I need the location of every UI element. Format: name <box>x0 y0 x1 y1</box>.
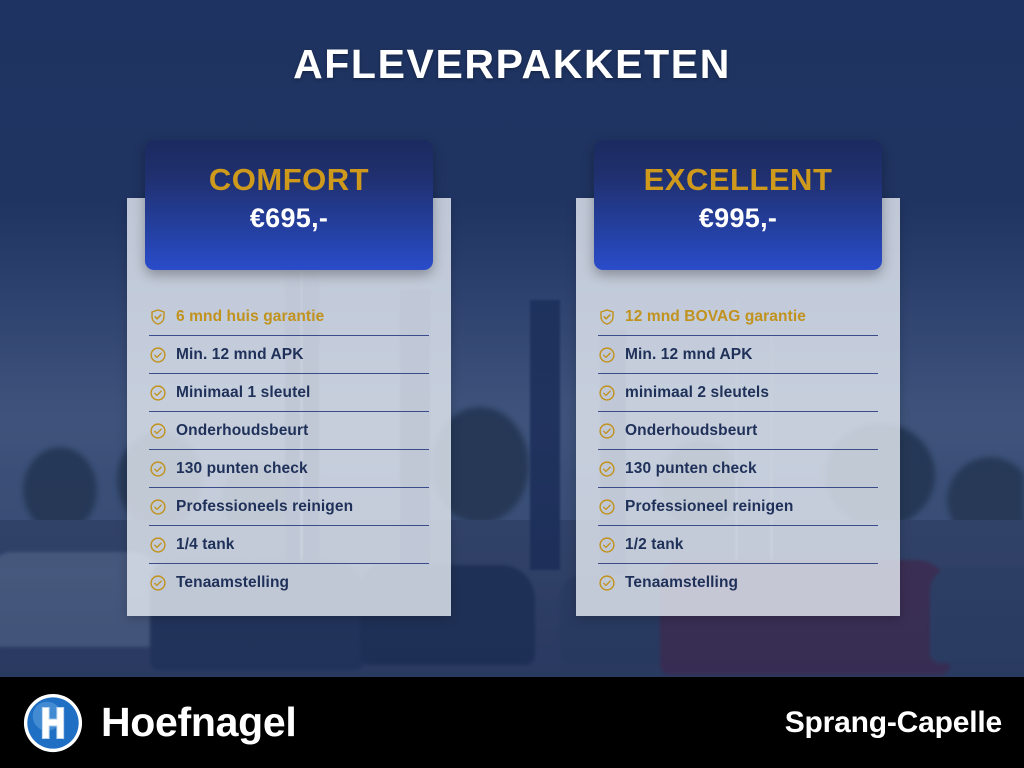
brand-block: Hoefnagel <box>22 692 297 754</box>
package-price: €995,- <box>594 203 882 234</box>
feature-row: 1/4 tank <box>149 526 429 564</box>
feature-row: Minimaal 1 sleutel <box>149 374 429 412</box>
circle-check-icon <box>598 498 616 516</box>
feature-label: 12 mnd BOVAG garantie <box>625 308 806 326</box>
feature-row: Tenaamstelling <box>149 564 429 602</box>
feature-label: Minimaal 1 sleutel <box>176 384 310 402</box>
feature-row: Onderhoudsbeurt <box>598 412 878 450</box>
circle-check-icon <box>149 346 167 364</box>
package-header-comfort: COMFORT €695,- <box>145 140 433 270</box>
feature-row: minimaal 2 sleutels <box>598 374 878 412</box>
package-card-comfort: COMFORT €695,- 6 mnd huis garantie <box>127 198 451 616</box>
feature-list-comfort: 6 mnd huis garantie Min. 12 mnd APK <box>149 298 429 602</box>
feature-row: Professioneels reinigen <box>149 488 429 526</box>
feature-label: 1/2 tank <box>625 536 684 554</box>
feature-label: Min. 12 mnd APK <box>625 346 753 364</box>
circle-check-icon <box>598 422 616 440</box>
feature-row: 6 mnd huis garantie <box>149 298 429 336</box>
feature-row: Tenaamstelling <box>598 564 878 602</box>
feature-row: Professioneel reinigen <box>598 488 878 526</box>
feature-list-excellent: 12 mnd BOVAG garantie Min. 12 mnd APK <box>598 298 878 602</box>
feature-label: Tenaamstelling <box>176 574 289 592</box>
feature-label: 6 mnd huis garantie <box>176 308 324 326</box>
hoefnagel-h-logo-icon <box>22 692 84 754</box>
circle-check-icon <box>149 574 167 592</box>
circle-check-icon <box>149 498 167 516</box>
circle-check-icon <box>598 346 616 364</box>
circle-check-icon <box>149 536 167 554</box>
feature-row: 130 punten check <box>598 450 878 488</box>
package-name: EXCELLENT <box>594 164 882 197</box>
feature-row: Min. 12 mnd APK <box>149 336 429 374</box>
slide-canvas: AFLEVERPAKKETEN COMFORT €695,- 6 mnd hui… <box>0 0 1024 768</box>
circle-check-icon <box>598 574 616 592</box>
shield-check-icon <box>149 308 167 326</box>
feature-label: Tenaamstelling <box>625 574 738 592</box>
circle-check-icon <box>149 460 167 478</box>
circle-check-icon <box>598 460 616 478</box>
feature-row: 1/2 tank <box>598 526 878 564</box>
brand-name: Hoefnagel <box>101 699 297 746</box>
location-label: Sprang-Capelle <box>785 706 1002 740</box>
feature-row: Onderhoudsbeurt <box>149 412 429 450</box>
page-title: AFLEVERPAKKETEN <box>0 41 1024 88</box>
circle-check-icon <box>598 384 616 402</box>
feature-label: Onderhoudsbeurt <box>176 422 308 440</box>
circle-check-icon <box>149 422 167 440</box>
feature-label: 130 punten check <box>625 460 757 478</box>
feature-label: Professioneel reinigen <box>625 498 793 516</box>
feature-label: 1/4 tank <box>176 536 235 554</box>
feature-label: Min. 12 mnd APK <box>176 346 304 364</box>
shield-check-icon <box>598 308 616 326</box>
feature-row: 130 punten check <box>149 450 429 488</box>
footer-bar: Hoefnagel Sprang-Capelle <box>0 677 1024 768</box>
circle-check-icon <box>149 384 167 402</box>
package-price: €695,- <box>145 203 433 234</box>
feature-label: Professioneels reinigen <box>176 498 353 516</box>
feature-row: Min. 12 mnd APK <box>598 336 878 374</box>
feature-row: 12 mnd BOVAG garantie <box>598 298 878 336</box>
feature-label: Onderhoudsbeurt <box>625 422 757 440</box>
package-name: COMFORT <box>145 164 433 197</box>
feature-label: minimaal 2 sleutels <box>625 384 769 402</box>
circle-check-icon <box>598 536 616 554</box>
package-card-excellent: EXCELLENT €995,- 12 mnd BOVAG garantie <box>576 198 900 616</box>
feature-label: 130 punten check <box>176 460 308 478</box>
package-header-excellent: EXCELLENT €995,- <box>594 140 882 270</box>
